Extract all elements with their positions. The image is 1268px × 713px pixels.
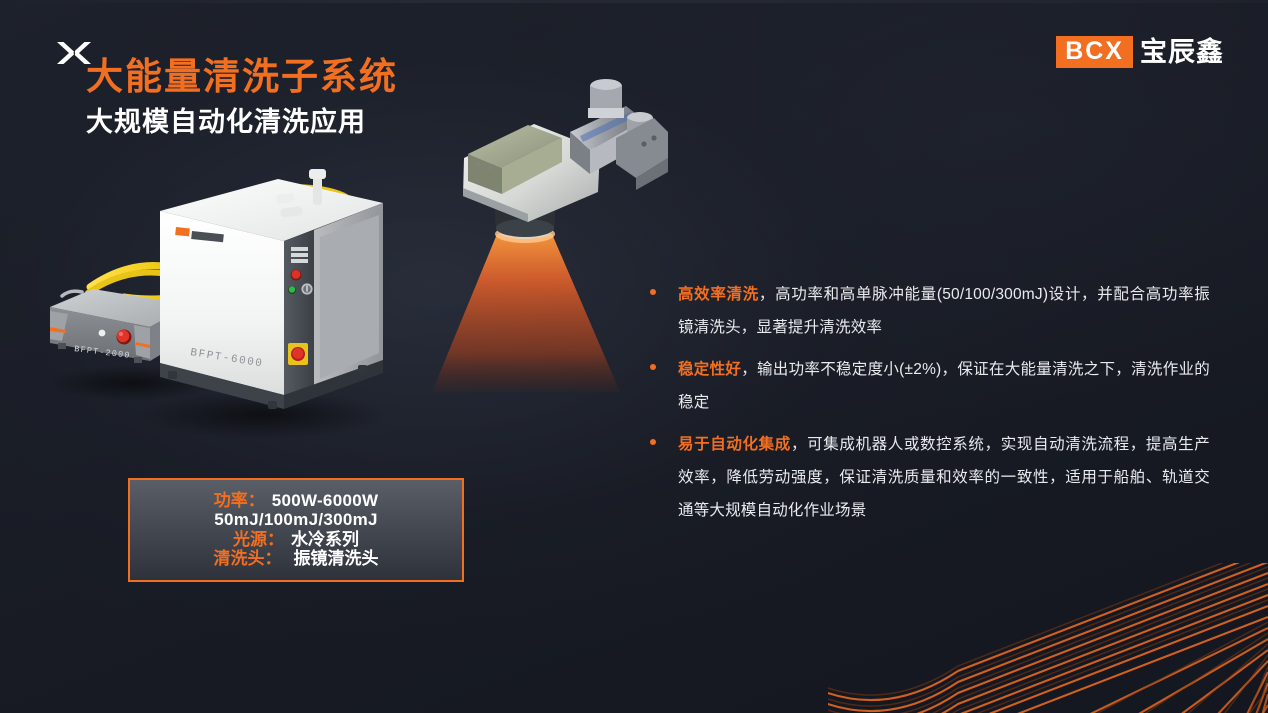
spec-value-head: 振镜清洗头	[294, 549, 379, 568]
brand-logo: BCX 宝辰鑫	[1056, 36, 1224, 68]
top-edge-glow	[0, 0, 1268, 3]
spec-row-source: 光源： 水冷系列	[233, 530, 359, 549]
page-subtitle: 大规模自动化清洗应用	[86, 106, 398, 138]
spec-row-head: 清洗头： 振镜清洗头	[214, 549, 379, 568]
spec-value-source: 水冷系列	[291, 530, 359, 549]
bullet-highlight: 易于自动化集成	[678, 436, 791, 453]
title-block: 大能量清洗子系统 大规模自动化清洗应用	[86, 58, 398, 138]
page-title: 大能量清洗子系统	[86, 58, 398, 97]
slide-canvas: 大能量清洗子系统 大规模自动化清洗应用 BCX 宝辰鑫	[0, 0, 1268, 713]
list-item: 易于自动化集成，可集成机器人或数控系统，实现自动清洗流程，提高生产效率，降低劳动…	[650, 428, 1210, 527]
bullet-text: 稳定性好，输出功率不稳定度小(±2%)，保证在大能量清洗之下，清洗作业的稳定	[678, 353, 1210, 419]
spec-value-pulse-energy: 50mJ/100mJ/300mJ	[214, 510, 378, 529]
bullet-dot-icon	[650, 289, 656, 295]
bullet-text: 易于自动化集成，可集成机器人或数控系统，实现自动清洗流程，提高生产效率，降低劳动…	[678, 428, 1210, 527]
list-item: 高效率清洗，高功率和高单脉冲能量(50/100/300mJ)设计，并配合高功率振…	[650, 278, 1210, 344]
laser-source-units-image: BFPT-2000	[38, 165, 428, 455]
bullet-body: ，输出功率不稳定度小(±2%)，保证在大能量清洗之下，清洗作业的稳定	[678, 361, 1210, 411]
list-item: 稳定性好，输出功率不稳定度小(±2%)，保证在大能量清洗之下，清洗作业的稳定	[650, 353, 1210, 419]
spec-box: 功率： 500W-6000W 50mJ/100mJ/300mJ 光源： 水冷系列…	[128, 478, 464, 582]
spec-label-source: 光源：	[233, 530, 284, 549]
brand-badge-bcx: BCX	[1056, 36, 1133, 68]
bullet-dot-icon	[650, 364, 656, 370]
bullet-highlight: 稳定性好	[678, 361, 741, 378]
feature-bullet-list: 高效率清洗，高功率和高单脉冲能量(50/100/300mJ)设计，并配合高功率振…	[650, 278, 1210, 536]
spec-value-power: 500W-6000W	[272, 491, 379, 510]
spec-row-pulse-energy: 50mJ/100mJ/300mJ	[214, 510, 378, 529]
bullet-highlight: 高效率清洗	[678, 286, 759, 303]
spec-row-power: 功率： 500W-6000W	[214, 491, 379, 510]
brand-name-cn: 宝辰鑫	[1140, 39, 1224, 66]
spec-label-head: 清洗头：	[214, 549, 282, 568]
corner-line-decoration	[828, 563, 1268, 713]
spec-label-power: 功率：	[214, 491, 265, 510]
bullet-text: 高效率清洗，高功率和高单脉冲能量(50/100/300mJ)设计，并配合高功率振…	[678, 278, 1210, 344]
bullet-dot-icon	[650, 439, 656, 445]
